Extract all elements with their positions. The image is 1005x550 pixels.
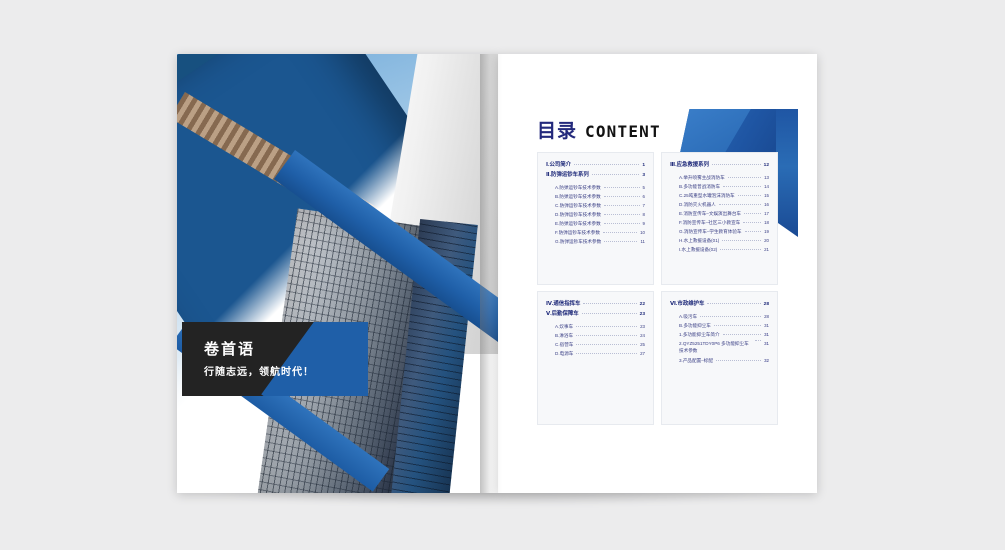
toc-entry-page-number: 10 (640, 230, 645, 235)
toc-entry-page-number: 28 (764, 314, 769, 319)
toc-entry-label: Ⅳ.通信指挥车 (546, 301, 580, 308)
toc-entry[interactable]: E.防弹运钞车技术参数9 (546, 221, 645, 227)
toc-entry[interactable]: C.宿营车25 (546, 342, 645, 348)
toc-leader-dots (604, 187, 640, 188)
toc-entry-list: Ⅵ.市政维护车28A.吸污车28B.多功能抑尘车311.多功能抑尘车简介312.… (662, 292, 777, 367)
contents-page: 目录 CONTENT Ⅰ.公司简介1Ⅱ.防弹运钞车系列3A.防弹运钞车技术参数5… (498, 54, 817, 493)
toc-panel-bottom-left: Ⅳ.通信指挥车22Ⅴ.后勤保障车23A.炊事车23B.淋浴车24C.宿营车25D… (537, 291, 654, 425)
toc-entry-label: A.吸污车 (670, 314, 697, 320)
toc-leader-dots (755, 340, 761, 341)
toc-leader-dots (720, 249, 761, 250)
toc-entry[interactable]: D.防弹运钞车技术参数8 (546, 212, 645, 218)
toc-entry-label: Ⅵ.市政维护车 (670, 301, 704, 308)
toc-entry-page-number: 19 (764, 229, 769, 234)
toc-entry-page-number: 11 (640, 239, 645, 244)
toc-leader-dots (738, 195, 761, 196)
toc-entry-label: G.防弹运钞车技术参数 (546, 239, 601, 245)
toc-entry-label: G.消防宣传车–学生教育体验车 (670, 229, 742, 235)
toc-entry-page-number: 1 (642, 163, 645, 168)
toc-entry[interactable]: D.电源车27 (546, 351, 645, 357)
toc-entry[interactable]: C.防弹运钞车技术参数7 (546, 203, 645, 209)
toc-entry-label: B.淋浴车 (546, 333, 573, 339)
toc-entry-label: 1.多功能抑尘车简介 (670, 332, 720, 338)
toc-entry-list: Ⅳ.通信指挥车22Ⅴ.后勤保障车23A.炊事车23B.淋浴车24C.宿营车25D… (538, 292, 653, 360)
screenshot-canvas: 卷首语 行随志远，领航时代！ 目录 CONTENT Ⅰ.公司简介1Ⅱ.防弹运钞车… (0, 0, 1005, 550)
toc-entry-label: A.炊事车 (546, 324, 573, 330)
toc-leader-dots (744, 213, 761, 214)
toc-leader-dots (576, 353, 637, 354)
toc-entry-label: D.防弹运钞车技术参数 (546, 212, 601, 218)
toc-entry[interactable]: Ⅰ.公司简介1 (546, 162, 645, 169)
toc-entry[interactable]: A.吸污车28 (670, 314, 769, 320)
toc-leader-dots (576, 344, 637, 345)
cover-photograph (177, 54, 498, 493)
toc-entry-page-number: 27 (640, 351, 645, 356)
toc-entry-page-number: 15 (764, 193, 769, 198)
toc-entry-page-number: 18 (764, 220, 769, 225)
ribbon-tail (776, 109, 798, 237)
toc-entry-label: F.消防宣传车–社区三小教宣车 (670, 220, 740, 226)
toc-leader-dots (583, 303, 636, 304)
toc-entry-page-number: 31 (764, 332, 769, 337)
cover-title: 卷首语 (204, 338, 255, 359)
toc-entry[interactable]: I.水上救援设备(02)21 (670, 247, 769, 253)
toc-entry-page-number: 8 (643, 212, 645, 217)
toc-entry[interactable]: A.炊事车23 (546, 324, 645, 330)
toc-entry-label: 2.QYZ5251TDY0P6 多功能抑尘车技术参数 (670, 341, 752, 355)
toc-entry[interactable]: F.消防宣传车–社区三小教宣车18 (670, 220, 769, 226)
toc-entry[interactable]: Ⅳ.通信指挥车22 (546, 301, 645, 308)
toc-panel-top-right: Ⅲ.应急救援系列12A.举升喷雾主战消防车13B.多功能普战消防车14C.25吨… (661, 152, 778, 285)
toc-entry[interactable]: D.消防灭火机器人16 (670, 202, 769, 208)
toc-entry-list: Ⅲ.应急救援系列12A.举升喷雾主战消防车13B.多功能普战消防车14C.25吨… (662, 153, 777, 256)
toc-entry-label: Ⅴ.后勤保障车 (546, 311, 579, 318)
toc-leader-dots (716, 360, 761, 361)
toc-entry-page-number: 24 (640, 333, 645, 338)
toc-entry-page-number: 31 (764, 341, 769, 346)
toc-panel-top-left: Ⅰ.公司简介1Ⅱ.防弹运钞车系列3A.防弹运钞车技术参数5B.防弹运钞车技术参数… (537, 152, 654, 285)
toc-entry-label: Ⅲ.应急救援系列 (670, 162, 709, 169)
toc-entry[interactable]: Ⅱ.防弹运钞车系列3 (546, 172, 645, 179)
toc-entry[interactable]: 1.多功能抑尘车简介31 (670, 332, 769, 338)
toc-leader-dots (604, 223, 640, 224)
toc-entry[interactable]: G.防弹运钞车技术参数11 (546, 239, 645, 245)
toc-entry-page-number: 3 (642, 173, 645, 178)
toc-leader-dots (576, 326, 637, 327)
toc-leader-dots (604, 205, 640, 206)
toc-entry-page-number: 28 (764, 302, 769, 307)
toc-entry-page-number: 6 (643, 194, 645, 199)
brochure-spread: 卷首语 行随志远，领航时代！ 目录 CONTENT Ⅰ.公司简介1Ⅱ.防弹运钞车… (177, 54, 817, 493)
toc-leader-dots (582, 313, 637, 314)
toc-entry-page-number: 5 (643, 185, 645, 190)
toc-entry-page-number: 20 (764, 238, 769, 243)
toc-leader-dots (604, 214, 640, 215)
toc-entry[interactable]: 2.QYZ5251TDY0P6 多功能抑尘车技术参数31 (670, 341, 769, 355)
contents-heading-cn: 目录 (537, 116, 577, 143)
toc-entry-page-number: 23 (640, 324, 645, 329)
toc-entry-label: F.防弹运钞车技术参数 (546, 230, 600, 236)
toc-entry[interactable]: Ⅲ.应急救援系列12 (670, 162, 769, 169)
toc-leader-dots (714, 325, 761, 326)
toc-entry[interactable]: A.举升喷雾主战消防车13 (670, 175, 769, 181)
toc-entry-list: Ⅰ.公司简介1Ⅱ.防弹运钞车系列3A.防弹运钞车技术参数5B.防弹运钞车技术参数… (538, 153, 653, 248)
toc-entry-label: E.消防宣传车–文娱演出舞台车 (670, 211, 741, 217)
toc-entry[interactable]: C.25吨重型水罐泡沫消防车15 (670, 193, 769, 199)
toc-entry-label: B.多功能普战消防车 (670, 184, 720, 190)
cover-subtitle: 行随志远，领航时代！ (204, 363, 314, 378)
toc-entry[interactable]: B.淋浴车24 (546, 333, 645, 339)
toc-entry-label: C.宿营车 (546, 342, 573, 348)
toc-entry-page-number: 31 (764, 323, 769, 328)
toc-entry[interactable]: A.防弹运钞车技术参数5 (546, 185, 645, 191)
toc-entry-page-number: 14 (764, 184, 769, 189)
toc-panel-bottom-right: Ⅵ.市政维护车28A.吸污车28B.多功能抑尘车311.多功能抑尘车简介312.… (661, 291, 778, 425)
toc-entry-label: C.防弹运钞车技术参数 (546, 203, 601, 209)
toc-entry-label: Ⅱ.防弹运钞车系列 (546, 172, 589, 179)
toc-entry-page-number: 12 (764, 163, 769, 168)
toc-entry-label: I.水上救援设备(02) (670, 247, 717, 253)
contents-heading: 目录 CONTENT (537, 116, 661, 143)
toc-leader-dots (743, 222, 761, 223)
toc-entry-page-number: 7 (643, 203, 645, 208)
toc-leader-dots (712, 164, 761, 165)
toc-entry-label: Ⅰ.公司简介 (546, 162, 571, 169)
toc-leader-dots (728, 177, 761, 178)
toc-leader-dots (574, 164, 639, 165)
toc-leader-dots (576, 335, 637, 336)
cover-title-bar: 卷首语 行随志远，领航时代！ (182, 322, 368, 396)
toc-leader-dots (722, 240, 761, 241)
toc-entry[interactable]: 3.产品配置–标配32 (670, 358, 769, 364)
toc-entry-label: B.防弹运钞车技术参数 (546, 194, 601, 200)
toc-entry-label: D.消防灭火机器人 (670, 202, 716, 208)
toc-entry-label: E.防弹运钞车技术参数 (546, 221, 601, 227)
toc-leader-dots (700, 316, 761, 317)
toc-entry-label: H.水上救援设备(01) (670, 238, 719, 244)
toc-entry-page-number: 21 (764, 247, 769, 252)
toc-entry-page-number: 16 (764, 202, 769, 207)
toc-entry-page-number: 32 (764, 358, 769, 363)
toc-leader-dots (745, 231, 762, 232)
toc-entry-label: 3.产品配置–标配 (670, 358, 713, 364)
title-bar-blue-slash (261, 322, 368, 396)
toc-entry-label: C.25吨重型水罐泡沫消防车 (670, 193, 735, 199)
toc-leader-dots (604, 241, 637, 242)
toc-leader-dots (604, 196, 640, 197)
toc-entry[interactable]: G.消防宣传车–学生教育体验车19 (670, 229, 769, 235)
toc-leader-dots (592, 174, 640, 175)
toc-entry[interactable]: Ⅵ.市政维护车28 (670, 301, 769, 308)
toc-entry-label: A.举升喷雾主战消防车 (670, 175, 725, 181)
toc-entry[interactable]: F.防弹运钞车技术参数10 (546, 230, 645, 236)
toc-entry-page-number: 13 (764, 175, 769, 180)
toc-entry[interactable]: B.多功能普战消防车14 (670, 184, 769, 190)
toc-entry-page-number: 9 (643, 221, 645, 226)
toc-leader-dots (723, 334, 762, 335)
toc-leader-dots (603, 232, 637, 233)
toc-entry[interactable]: B.多功能抑尘车31 (670, 323, 769, 329)
toc-entry-label: A.防弹运钞车技术参数 (546, 185, 601, 191)
cover-page: 卷首语 行随志远，领航时代！ (177, 54, 498, 493)
toc-leader-dots (719, 204, 761, 205)
toc-entry-label: D.电源车 (546, 351, 573, 357)
toc-entry-page-number: 17 (764, 211, 769, 216)
toc-entry[interactable]: E.消防宣传车–文娱演出舞台车17 (670, 211, 769, 217)
toc-entry-page-number: 25 (640, 342, 645, 347)
contents-heading-en: CONTENT (585, 122, 661, 141)
toc-entry[interactable]: H.水上救援设备(01)20 (670, 238, 769, 244)
toc-leader-dots (723, 186, 761, 187)
toc-entry-label: B.多功能抑尘车 (670, 323, 711, 329)
toc-entry[interactable]: Ⅴ.后勤保障车23 (546, 311, 645, 318)
toc-leader-dots (707, 303, 760, 304)
toc-entry[interactable]: B.防弹运钞车技术参数6 (546, 194, 645, 200)
toc-entry-page-number: 23 (640, 312, 645, 317)
toc-entry-page-number: 22 (640, 302, 645, 307)
